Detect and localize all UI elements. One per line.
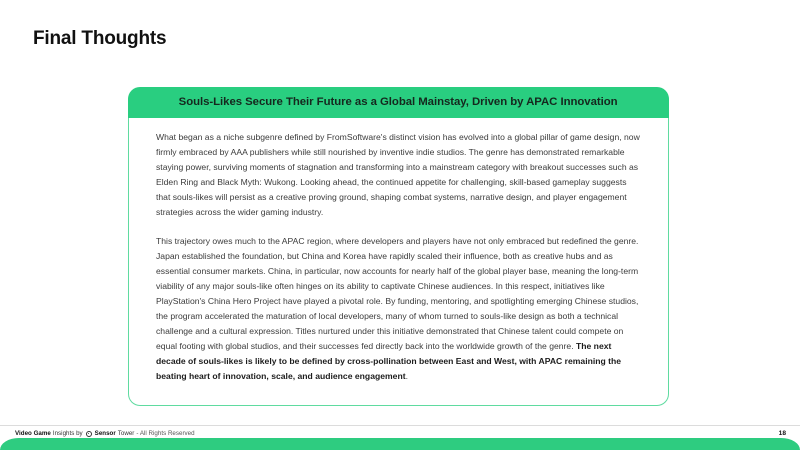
paragraph-two: This trajectory owes much to the APAC re… — [156, 234, 641, 385]
sensortower-circle-icon — [86, 431, 92, 437]
footer-brand-bold: Video Game — [15, 430, 51, 437]
footer-sensor-bold: Sensor — [95, 430, 116, 437]
card-header-title: Souls-Likes Secure Their Future as a Glo… — [179, 96, 618, 108]
page-number: 18 — [779, 430, 786, 437]
paragraph-two-tail: . — [406, 371, 408, 381]
footer-rights: - All Rights Reserved — [136, 430, 194, 437]
footer-brand-light: Insights by — [53, 430, 83, 437]
insight-card: Souls-Likes Secure Their Future as a Glo… — [128, 88, 669, 406]
slide-canvas: Final Thoughts Souls-Likes Secure Their … — [0, 0, 800, 450]
page-title: Final Thoughts — [33, 28, 166, 50]
footer-tower-light: Tower — [118, 430, 135, 437]
paragraph-one: What began as a niche subgenre defined b… — [156, 130, 641, 221]
card-header-bar: Souls-Likes Secure Their Future as a Glo… — [128, 87, 669, 118]
footer-accent-bar — [0, 438, 800, 450]
footer-brand: Video Game Insights by SensorTower - All… — [15, 430, 195, 437]
paragraph-two-normal: This trajectory owes much to the APAC re… — [156, 236, 638, 352]
footer-divider — [0, 425, 800, 426]
card-body: What began as a niche subgenre defined b… — [129, 119, 668, 385]
